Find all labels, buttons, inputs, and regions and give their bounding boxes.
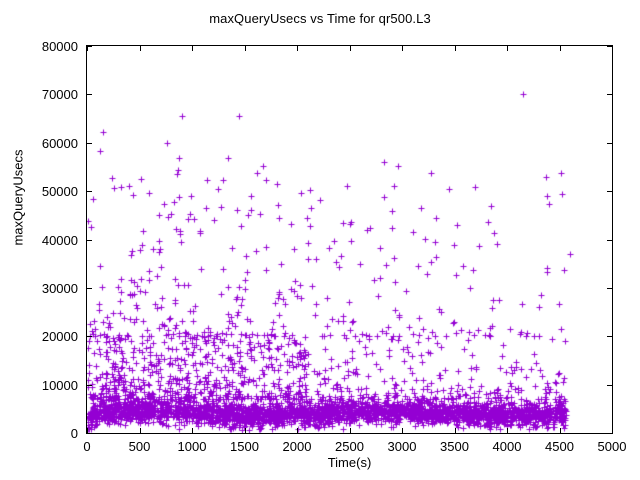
x-tick-mark <box>560 46 561 51</box>
y-tick-mark <box>607 288 612 289</box>
x-tick-mark <box>297 46 298 51</box>
x-tick-mark <box>297 428 298 433</box>
x-tick-mark <box>140 46 141 51</box>
x-tick-mark <box>87 428 88 433</box>
y-tick-mark <box>607 94 612 95</box>
y-tick-mark <box>607 191 612 192</box>
y-tick-mark <box>607 433 612 434</box>
chart-root: maxQueryUsecs vs Time for qr500.L3 maxQu… <box>0 0 640 480</box>
y-tick-mark <box>607 240 612 241</box>
y-tick-mark <box>87 433 92 434</box>
y-tick-mark <box>87 288 92 289</box>
x-tick-mark <box>507 46 508 51</box>
x-tick-mark <box>612 46 613 51</box>
x-tick-mark <box>192 46 193 51</box>
x-tick-label: 5000 <box>577 440 640 453</box>
y-tick-mark <box>87 94 92 95</box>
x-tick-mark <box>140 428 141 433</box>
y-tick-mark <box>87 240 92 241</box>
x-tick-mark <box>455 46 456 51</box>
x-tick-mark <box>192 428 193 433</box>
x-tick-mark <box>402 428 403 433</box>
y-tick-mark <box>607 385 612 386</box>
x-tick-mark <box>350 428 351 433</box>
x-tick-mark <box>245 46 246 51</box>
y-tick-mark <box>87 143 92 144</box>
x-tick-mark <box>402 46 403 51</box>
x-tick-mark <box>87 46 88 51</box>
x-tick-mark <box>455 428 456 433</box>
x-tick-mark <box>560 428 561 433</box>
y-tick-mark <box>607 143 612 144</box>
x-tick-mark <box>245 428 246 433</box>
x-axis-tick-labels: 0500100015002000250030003500400045005000 <box>0 0 640 480</box>
y-tick-mark <box>607 336 612 337</box>
y-tick-mark <box>87 191 92 192</box>
x-tick-mark <box>612 428 613 433</box>
y-tick-mark <box>87 336 92 337</box>
x-tick-mark <box>350 46 351 51</box>
x-tick-mark <box>507 428 508 433</box>
x-axis-label: Time(s) <box>86 455 613 470</box>
y-tick-mark <box>87 385 92 386</box>
